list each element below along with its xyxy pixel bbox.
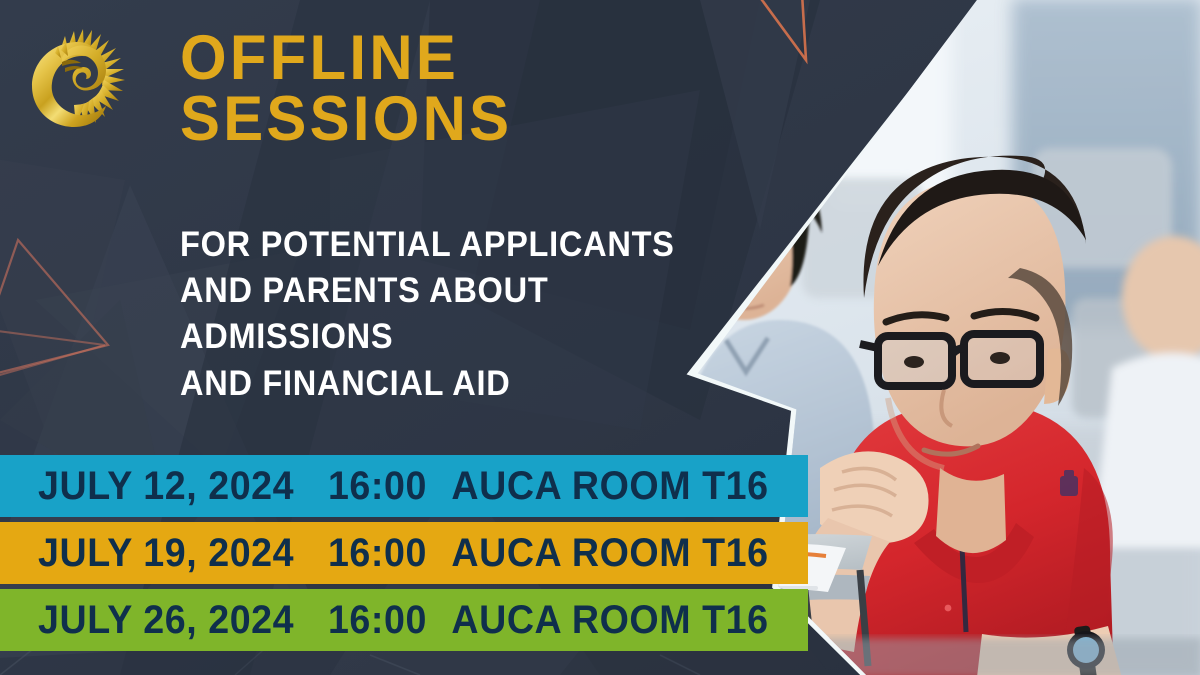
page-title: OFFLINE SESSIONS xyxy=(180,28,684,150)
session-place: AUCA ROOM T16 xyxy=(451,531,768,576)
session-row: JULY 26, 2024 16:00 AUCA ROOM T16 xyxy=(0,589,808,651)
session-time: 16:00 xyxy=(328,464,427,509)
subtitle-line-4: AND FINANCIAL AID xyxy=(180,361,701,407)
session-date: JULY 19, 2024 xyxy=(38,531,294,576)
session-place: AUCA ROOM T16 xyxy=(451,598,768,643)
session-time: 16:00 xyxy=(328,598,427,643)
session-time: 16:00 xyxy=(328,531,427,576)
subtitle-line-3: ADMISSIONS xyxy=(180,314,701,360)
subtitle-line-1: FOR POTENTIAL APPLICANTS xyxy=(180,222,701,268)
headline-line-1: OFFLINE xyxy=(180,28,684,89)
session-place: AUCA ROOM T16 xyxy=(451,464,768,509)
subtitle-line-2: AND PARENTS ABOUT xyxy=(180,268,701,314)
session-date: JULY 26, 2024 xyxy=(38,598,294,643)
session-list: JULY 12, 2024 16:00 AUCA ROOM T16 JULY 1… xyxy=(0,455,808,651)
promo-poster: OFFLINE SESSIONS FOR POTENTIAL APPLICANT… xyxy=(0,0,1200,675)
headline-line-2: SESSIONS xyxy=(180,89,684,150)
session-row: JULY 12, 2024 16:00 AUCA ROOM T16 xyxy=(0,455,808,517)
subtitle: FOR POTENTIAL APPLICANTS AND PARENTS ABO… xyxy=(180,222,701,407)
session-row: JULY 19, 2024 16:00 AUCA ROOM T16 xyxy=(0,522,808,584)
session-date: JULY 12, 2024 xyxy=(38,464,294,509)
auca-eagle-logo xyxy=(18,22,136,140)
